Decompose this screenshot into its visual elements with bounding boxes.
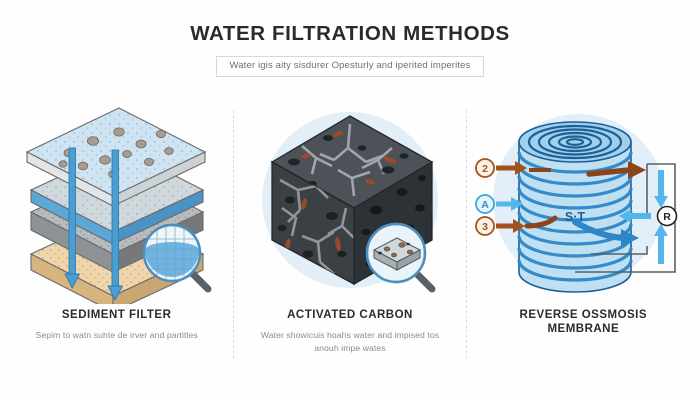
reverse-osmosis-caption: REVERSE OSSMOSIS MEMBRANE — [488, 308, 678, 344]
panels-row: SEDIMENT FILTER Sepim to watn suhte de i… — [0, 104, 700, 384]
label-r-text: R — [663, 211, 671, 223]
label-2-text: 2 — [482, 163, 488, 175]
subtitle-box: Water igis aity sisdurer Opesturly and i… — [216, 56, 483, 77]
panel-activated-carbon[interactable]: ACTIVATED CARBON Water showicuis hoahs w… — [233, 104, 466, 384]
caption-title-line-1: REVERSE OSSMOSIS — [488, 308, 678, 322]
label-a-text: A — [481, 199, 489, 211]
spiral-wound-membrane — [519, 122, 631, 292]
sediment-filter-illustration — [0, 104, 233, 304]
header: WATER FILTRATION METHODS Water igis aity… — [0, 22, 700, 77]
page-title: WATER FILTRATION METHODS — [0, 22, 700, 46]
label-recirculation: R — [657, 207, 676, 226]
panel-sediment-filter[interactable]: SEDIMENT FILTER Sepim to watn suhte de i… — [0, 104, 233, 384]
sediment-filter-caption: SEDIMENT FILTER Sepim to watn suhte de i… — [22, 308, 212, 342]
panel-reverse-osmosis[interactable]: 2 A 3 — [467, 104, 700, 384]
caption-description: Water showicuis hoahs water and impised … — [255, 329, 445, 354]
infographic-canvas: WATER FILTRATION METHODS Water igis aity… — [0, 0, 700, 400]
caption-title: ACTIVATED CARBON — [255, 308, 445, 322]
activated-carbon-caption: ACTIVATED CARBON Water showicuis hoahs w… — [255, 308, 445, 354]
reverse-osmosis-illustration: 2 A 3 — [467, 104, 700, 304]
label-3-text: 3 — [482, 221, 488, 233]
activated-carbon-illustration — [233, 104, 466, 304]
caption-description: Sepim to watn suhte de irver and partitl… — [22, 329, 212, 341]
caption-title-line-2: MEMBRANE — [488, 322, 678, 336]
caption-title: SEDIMENT FILTER — [22, 308, 212, 322]
